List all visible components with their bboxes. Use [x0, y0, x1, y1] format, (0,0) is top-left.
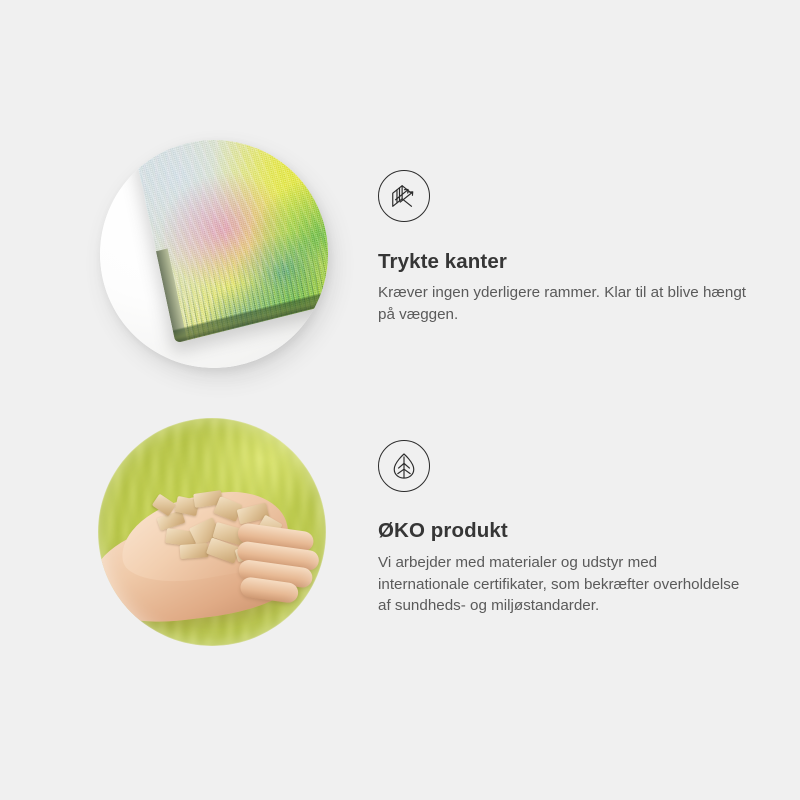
feature-description: Kræver ingen yderligere rammer. Klar til…	[378, 282, 750, 325]
product-feature-panel: Trykte kanter Kræver ingen yderligere ra…	[0, 0, 800, 800]
hands-with-wood-chips-photo	[98, 418, 326, 646]
fingers	[229, 520, 326, 608]
feature-title: ØKO produkt	[378, 519, 750, 543]
printed-edges-icon	[378, 170, 430, 222]
feature-block-eco-product: ØKO produkt Vi arbejder med materialer o…	[378, 440, 750, 617]
feature-block-printed-edges: Trykte kanter Kræver ingen yderligere ra…	[378, 170, 750, 325]
feature-title: Trykte kanter	[378, 250, 750, 274]
leaf-icon	[378, 440, 430, 492]
canvas-corner-photo	[100, 140, 328, 368]
feature-description: Vi arbejder med materialer og udstyr med…	[378, 552, 750, 617]
